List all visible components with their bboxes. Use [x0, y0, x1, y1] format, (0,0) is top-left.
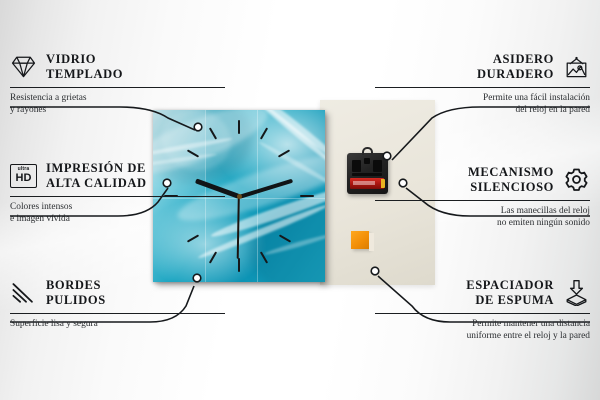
foam-spacer-sample [351, 231, 369, 249]
feature-desc-line1: Permite mantener una distancia [472, 319, 590, 329]
feature-bordes-pulidos: BORDES PULIDOS Superficie lisa y segura [10, 278, 225, 330]
feature-asidero-duradero: ASIDERO DURADERO Permite una fácil insta… [375, 52, 590, 117]
feature-desc-line1: Las manecillas del reloj [501, 206, 590, 216]
feature-desc-line2: e imagen vívida [10, 214, 70, 224]
feature-divider [375, 87, 590, 88]
feature-desc-line2: no emiten ningún sonido [497, 218, 590, 228]
ultra-hd-badge-icon: ultra HD [10, 164, 37, 188]
feature-title-line2: PULIDOS [46, 293, 106, 308]
feature-title-line1: BORDES [46, 278, 101, 292]
clock-tick-12 [238, 120, 240, 134]
foam-spacer-icon [563, 279, 590, 306]
clock-center-hub [237, 194, 242, 199]
feature-title-line1: MECANISMO [468, 165, 554, 179]
feature-divider [10, 313, 225, 314]
feature-desc-line1: Colores intensos [10, 202, 72, 212]
gear-icon [563, 166, 590, 193]
picture-hanger-icon [563, 53, 590, 80]
feature-title-line1: VIDRIO [46, 52, 96, 66]
product-infographic: VIDRIO TEMPLADO Resistencia a grietas y … [0, 0, 600, 400]
feature-desc-line1: Resistencia a grietas [10, 93, 87, 103]
feature-divider [10, 196, 225, 197]
feature-title-line2: DURADERO [477, 67, 554, 82]
feature-title-line2: TEMPLADO [46, 67, 123, 82]
feature-title-line1: IMPRESIÓN DE [46, 161, 146, 175]
feature-desc-line2: y rayones [10, 105, 46, 115]
feature-vidrio-templado: VIDRIO TEMPLADO Resistencia a grietas y … [10, 52, 225, 117]
clock-tick-3 [300, 195, 314, 197]
feature-divider [375, 313, 590, 314]
clock-tick-8 [187, 234, 199, 242]
diamond-icon [10, 53, 37, 80]
feature-desc-line1: Superficie lisa y segura [10, 319, 98, 329]
feature-espaciador-de-espuma: ESPACIADOR DE ESPUMA Permite mantener un… [375, 278, 590, 343]
ultra-hd-main-text: HD [16, 173, 32, 184]
mechanism-hook-icon [362, 147, 373, 155]
feature-divider [10, 87, 225, 88]
feature-desc-line2: uniforme entre el reloj y la pared [467, 331, 590, 341]
feature-title-line1: ASIDERO [493, 52, 554, 66]
feature-title-line1: ESPACIADOR [466, 278, 554, 292]
feature-title-line2: DE ESPUMA [466, 293, 554, 308]
clock-tick-6 [238, 258, 240, 272]
polished-edges-icon [10, 279, 37, 306]
feature-title-line2: SILENCIOSO [468, 180, 554, 195]
feature-divider [375, 200, 590, 201]
feature-title-line2: ALTA CALIDAD [46, 176, 147, 191]
clock-tick-1 [260, 127, 268, 139]
feature-mecanismo-silencioso: MECANISMO SILENCIOSO Las manecillas del … [375, 165, 590, 230]
feature-impresion-alta-calidad: ultra HD IMPRESIÓN DE ALTA CALIDAD Color… [10, 161, 225, 226]
feature-desc-line1: Permite una fácil instalación [483, 93, 590, 103]
feature-desc-line2: del reloj en la pared [516, 105, 590, 115]
